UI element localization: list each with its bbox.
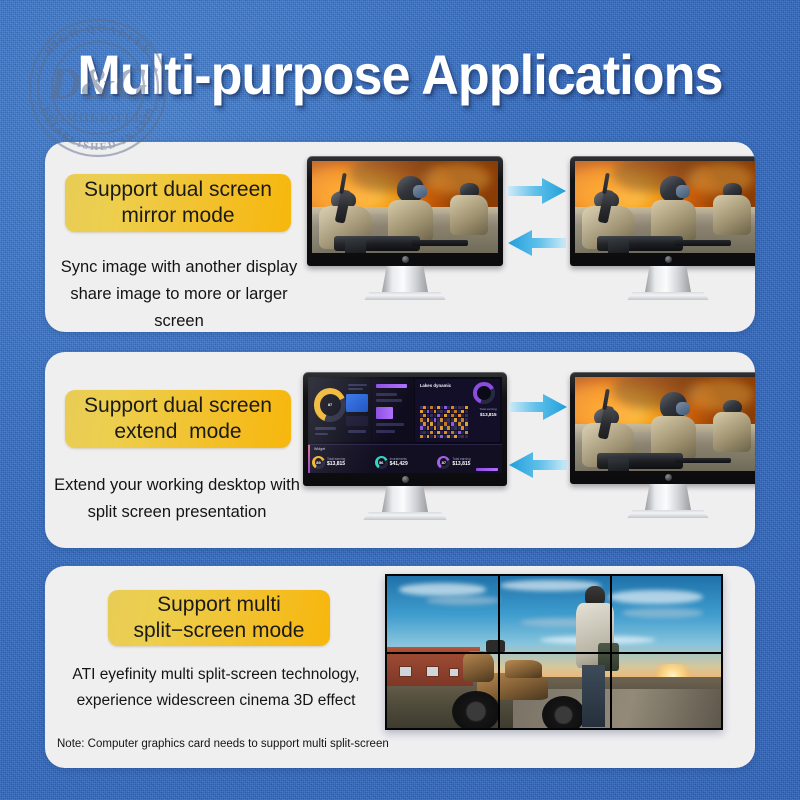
monitor-stand-neck	[645, 484, 691, 510]
caption-multi-split-screen: ATI eyefinity multi split-screen technol…	[51, 662, 381, 713]
game-scene	[312, 161, 498, 253]
page-title: Multi-purpose Applications	[28, 42, 772, 107]
badge-line-1: Support dual screen	[84, 393, 272, 419]
dashboard-stat: 89 Total earning $13,815	[312, 456, 373, 469]
monitor-logo-icon	[665, 256, 672, 263]
arrow-left	[509, 452, 567, 478]
caption-extend-mode: Extend your working desktop with split s…	[49, 472, 305, 526]
caption-mirror-mode: Sync image with another display share im…	[53, 254, 305, 332]
right-gauge-value: $13,815	[480, 412, 497, 417]
arrow-right	[508, 178, 566, 204]
game-landscape-scene	[385, 574, 723, 730]
target-monitor	[570, 156, 755, 300]
monitor-stand-base	[627, 510, 709, 518]
stat-value: $13,815	[327, 461, 345, 468]
stat-gauge-value: 56	[379, 460, 383, 465]
badge-extend-mode: Support dual screen extend mode	[65, 390, 291, 448]
arrow-left	[508, 230, 566, 256]
arrow-right	[509, 394, 567, 420]
dashboard-section-title: Lakes dynamic	[420, 383, 451, 388]
monitor-stand-base	[627, 292, 709, 300]
right-gauge-label: Total earning	[479, 407, 496, 411]
source-monitor	[307, 156, 503, 300]
stamp-middle-text: КОМПЬЮТЕРА	[44, 110, 152, 125]
badge-line-2: split−screen mode	[133, 618, 304, 644]
badge-mirror-mode: Support dual screen mirror mode	[65, 174, 291, 232]
panel-mirror-mode: Support dual screen mirror mode Sync ima…	[45, 142, 755, 332]
game-scene-extended	[575, 377, 755, 471]
monitor-stand-neck	[645, 266, 691, 292]
game-scene-mirrored	[575, 161, 755, 253]
stat-gauge-value: 89	[316, 460, 320, 465]
monitor-stand-base	[363, 512, 447, 520]
dashboard-monitor: 87	[303, 372, 507, 520]
stat-value: $13,815	[452, 461, 470, 468]
monitor-logo-icon	[402, 256, 409, 263]
monitor-logo-icon	[402, 476, 409, 483]
dashboard-heatmap	[420, 406, 468, 439]
dashboard-stat: 56 Investments $41,429	[375, 456, 436, 469]
stat-value: $41,429	[390, 461, 408, 468]
badge-line-2: extend mode	[84, 419, 272, 445]
panel-multi-split-screen-mode: Support multi split−screen mode ATI eyef…	[45, 566, 755, 768]
dashboard-footer-label: Widget	[314, 447, 325, 451]
stat-gauge-value: 87	[442, 460, 446, 465]
video-wall-bezel	[385, 574, 723, 730]
badge-line-2: mirror mode	[84, 203, 272, 229]
panel-extend-mode: Support dual screen extend mode Extend y…	[45, 352, 755, 548]
dashboard-right-gauge	[473, 382, 495, 403]
dashboard-main-gauge: 87	[314, 388, 347, 422]
extended-monitor	[570, 372, 755, 518]
dashboard-stat: 87 Total earning $13,815	[437, 456, 498, 469]
dashboard-scene: 87	[308, 377, 502, 473]
monitor-stand-neck	[382, 266, 428, 292]
monitor-stand-base	[364, 292, 446, 300]
badge-line-1: Support multi	[133, 592, 304, 618]
main-gauge-value: 87	[328, 402, 332, 407]
badge-multi-split-screen: Support multi split−screen mode	[108, 590, 330, 646]
monitor-stand-neck	[382, 486, 428, 512]
badge-line-1: Support dual screen	[84, 177, 272, 203]
video-wall	[385, 574, 723, 730]
infographic-page: Multi-purpose Applications HIGH QUALITY …	[0, 0, 800, 800]
note-graphics-card: Note: Computer graphics card needs to su…	[57, 738, 389, 750]
monitor-logo-icon	[665, 474, 672, 481]
